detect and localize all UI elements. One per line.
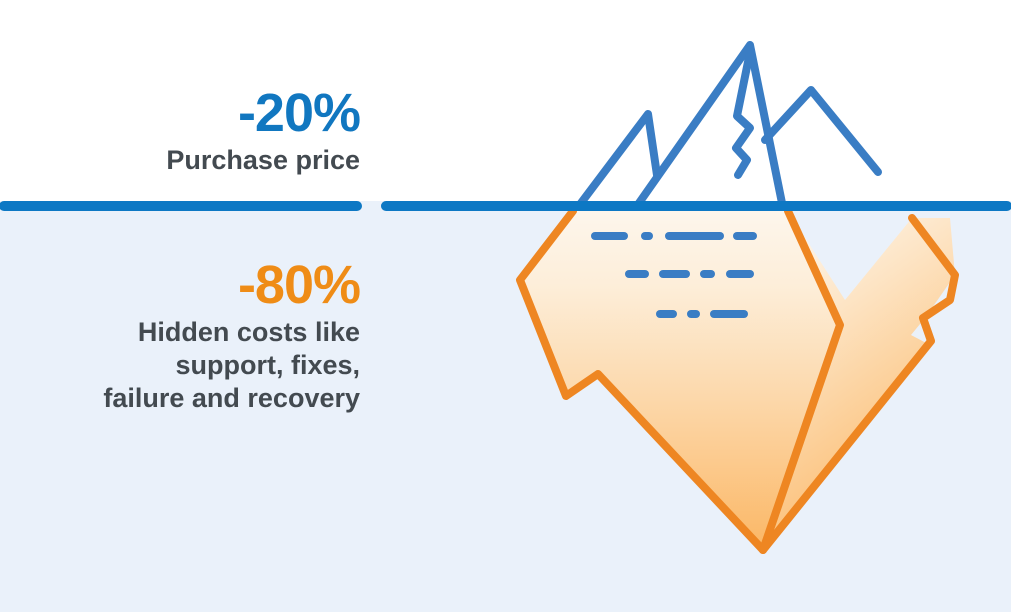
dash-mark bbox=[641, 232, 653, 240]
below-water-percent: -80% bbox=[0, 258, 360, 312]
below-water-caption: Hidden costs like support, fixes, failur… bbox=[0, 316, 360, 415]
above-water-percent: -20% bbox=[0, 86, 360, 140]
dash-mark bbox=[656, 310, 677, 318]
dash-mark bbox=[659, 270, 690, 278]
below-water-text-block: -80% Hidden costs like support, fixes, f… bbox=[0, 258, 360, 415]
above-water-caption: Purchase price bbox=[0, 144, 360, 177]
dash-mark bbox=[665, 232, 724, 240]
dash-mark bbox=[700, 270, 715, 278]
dash-mark bbox=[625, 270, 649, 278]
mountain-center-peak bbox=[639, 45, 782, 203]
dash-mark bbox=[726, 270, 754, 278]
caption-line: failure and recovery bbox=[0, 382, 360, 415]
mountain-right-peak bbox=[765, 90, 878, 172]
caption-line: Hidden costs like bbox=[0, 316, 360, 349]
dash-mark bbox=[687, 310, 700, 318]
caption-line: Purchase price bbox=[0, 144, 360, 177]
dash-mark bbox=[710, 310, 748, 318]
above-water-text-block: -20% Purchase price bbox=[0, 86, 360, 177]
iceberg-infographic: -20% Purchase price -80% Hidden costs li… bbox=[0, 0, 1011, 612]
mountain-center-inner-ridge bbox=[736, 52, 750, 175]
dash-mark bbox=[733, 232, 757, 240]
submerged-iceberg bbox=[520, 211, 955, 550]
dash-mark bbox=[591, 232, 628, 240]
caption-line: support, fixes, bbox=[0, 349, 360, 382]
mountain-peaks bbox=[581, 45, 878, 203]
